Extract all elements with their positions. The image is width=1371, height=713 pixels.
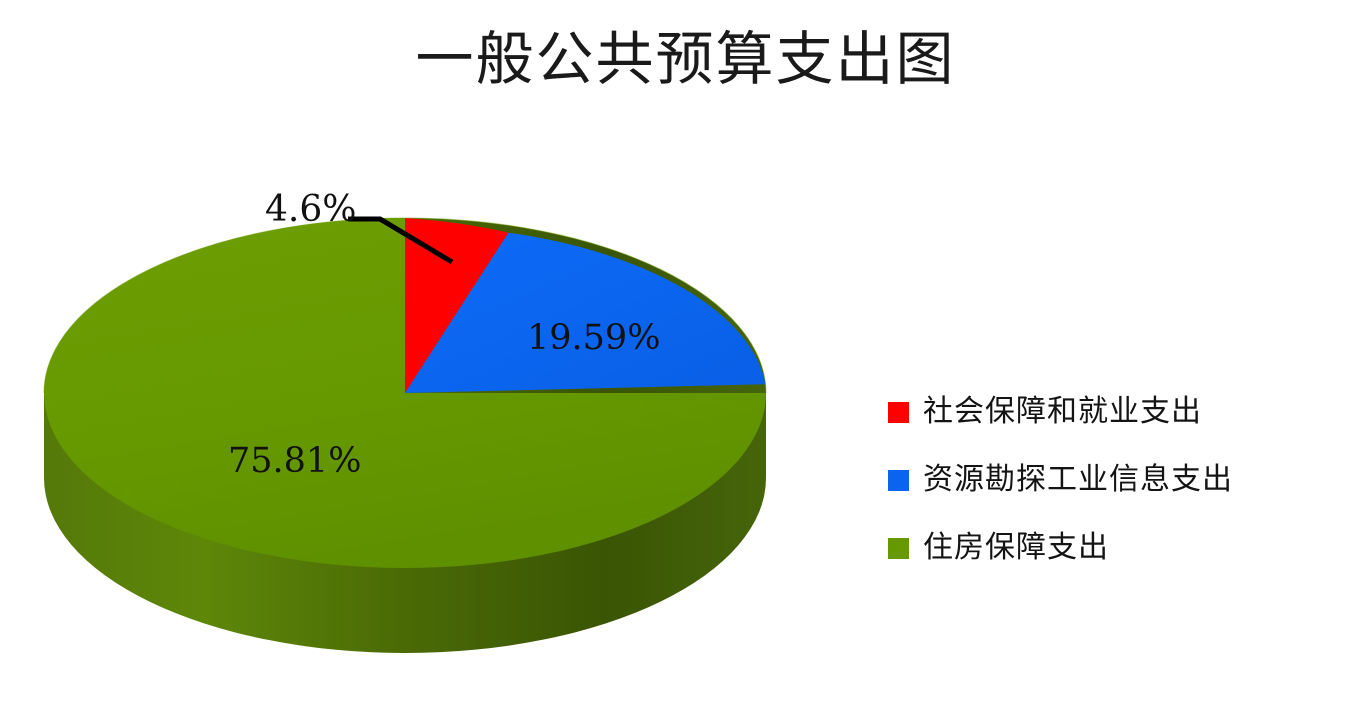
- legend-label-housing: 住房保障支出: [923, 531, 1109, 565]
- data-label-housing: 75.81%: [228, 441, 361, 481]
- chart-legend: 社会保障和就业支出 资源勘探工业信息支出 住房保障支出: [888, 378, 1328, 582]
- legend-item-social-security[interactable]: 社会保障和就业支出: [888, 378, 1328, 446]
- legend-item-housing[interactable]: 住房保障支出: [888, 514, 1328, 582]
- data-label-resource-industry: 19.59%: [527, 318, 660, 358]
- data-label-social-security: 4.6%: [265, 190, 356, 230]
- legend-item-resource-industry[interactable]: 资源勘探工业信息支出: [888, 446, 1328, 514]
- legend-label-social-security: 社会保障和就业支出: [923, 395, 1202, 429]
- legend-swatch-green-icon: [888, 538, 909, 559]
- pie-graphic: [0, 0, 1371, 713]
- legend-label-resource-industry: 资源勘探工业信息支出: [923, 463, 1233, 497]
- legend-swatch-blue-icon: [888, 470, 909, 491]
- legend-swatch-red-icon: [888, 402, 909, 423]
- pie-chart-figure: 一般公共预算支出图: [0, 0, 1371, 713]
